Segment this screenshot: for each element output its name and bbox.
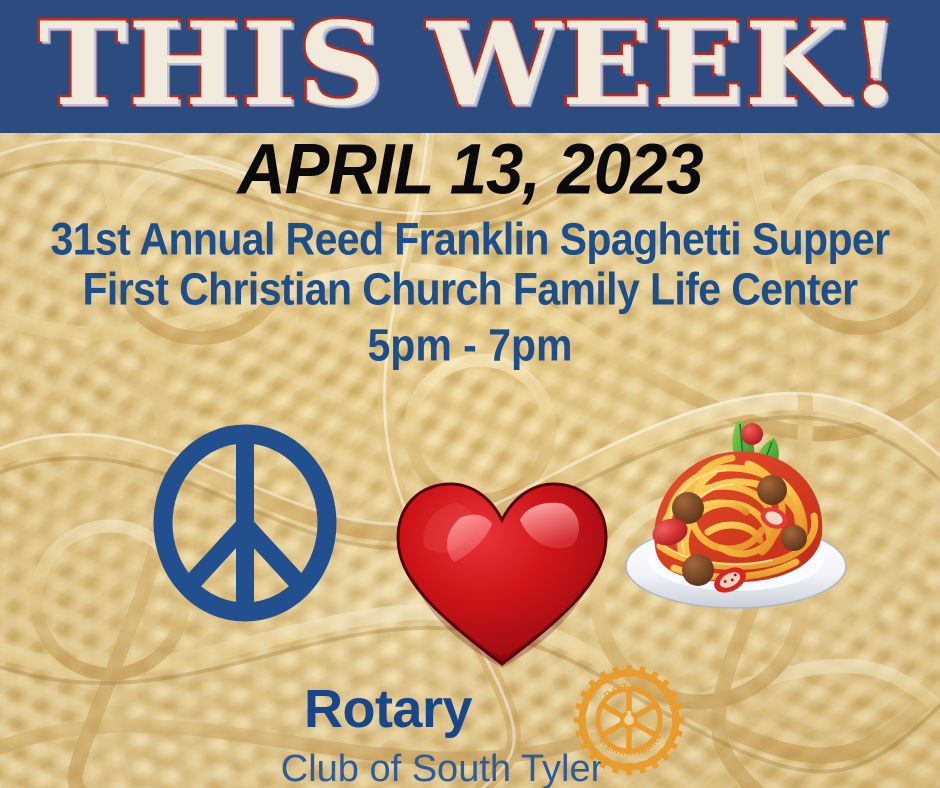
peace-sign-icon xyxy=(153,424,337,622)
red-heart-icon xyxy=(394,478,610,668)
this-week-banner: THIS WEEK! xyxy=(0,0,940,133)
rotary-wheel-icon: ROTARY INTERNATIONAL xyxy=(573,664,685,776)
headline-block: APRIL 13, 2023 31st Annual Reed Franklin… xyxy=(0,136,940,370)
rotary-wordmark: Rotary xyxy=(304,682,472,736)
banner-title: THIS WEEK! xyxy=(38,7,901,121)
rotary-club-name: Club of South Tyler xyxy=(281,750,603,788)
rotary-lockup: Rotary Club of South Tyler xyxy=(0,682,940,788)
spaghetti-plate-icon xyxy=(622,412,850,618)
event-venue: First Christian Church Family Life Cente… xyxy=(0,262,940,317)
event-date: APRIL 13, 2023 xyxy=(0,134,940,206)
event-flyer: THIS WEEK! APRIL 13, 2023 31st Annual Re… xyxy=(0,0,940,788)
event-name: 31st Annual Reed Franklin Spaghetti Supp… xyxy=(0,212,940,267)
event-time: 5pm - 7pm xyxy=(0,318,940,373)
